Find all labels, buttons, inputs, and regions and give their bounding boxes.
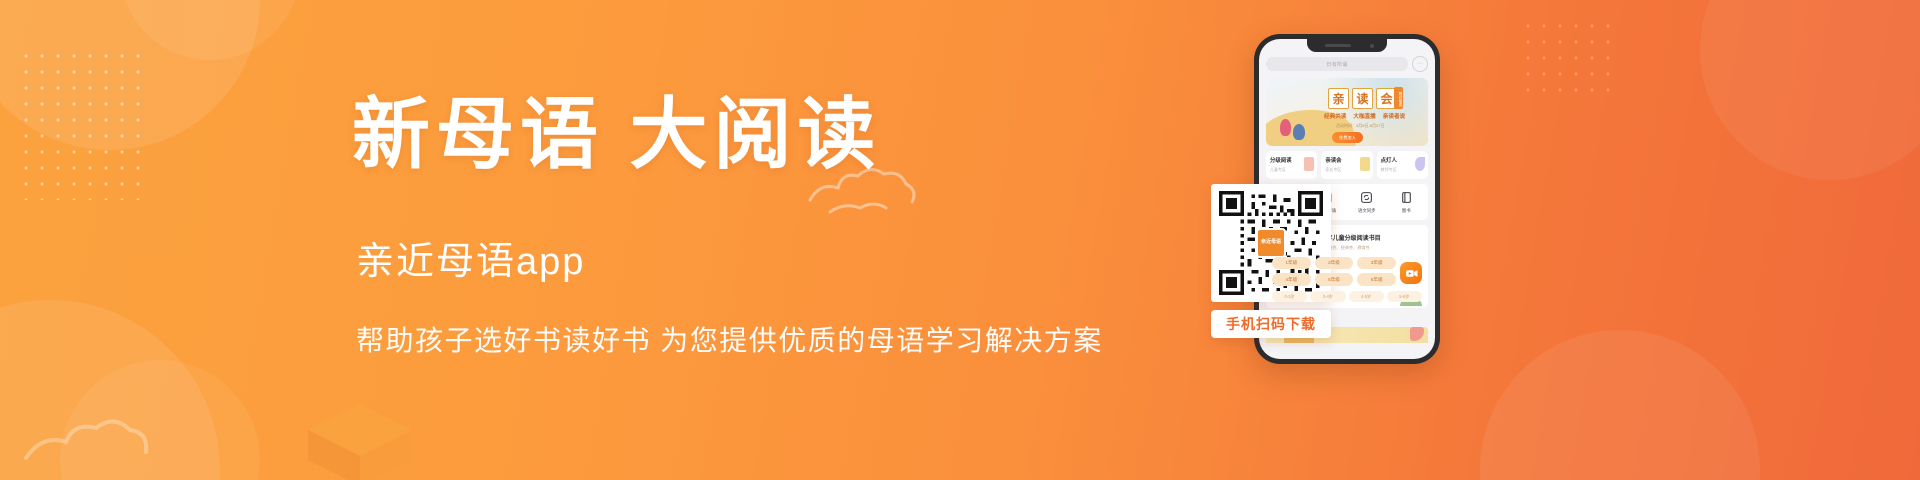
promo-banner: 新母语 大阅读 亲近母语app 帮助孩子选好书读好书 为您提供优质的母语学习解决… <box>0 0 1920 480</box>
decor-cloud-swirl-small-icon <box>20 398 170 478</box>
grade-chip-column: 3年级 6年级 <box>1357 257 1396 286</box>
sync-icon <box>1360 191 1373 204</box>
decor-dot-grid-left <box>18 48 150 200</box>
promo-features: 经典共读 大咖直播 亲读者说 <box>1324 112 1405 120</box>
grade-chip[interactable]: 2年级 <box>1315 257 1354 269</box>
promo-feature: 大咖直播 <box>1353 112 1375 120</box>
promo-title: 亲 读 会 <box>1328 88 1397 109</box>
promo-date: 活动时间：4月6日-5月27日 <box>1336 123 1384 129</box>
banner-subtitle: 亲近母语app <box>356 230 1052 285</box>
promo-child-figure-2 <box>1293 124 1305 140</box>
promo-badge: 限时免费 <box>1394 87 1403 109</box>
age-chip[interactable]: 3-4岁 <box>1310 291 1345 303</box>
promo-join-button[interactable]: 免费加入 <box>1332 132 1363 143</box>
quick-link-sync[interactable]: 语文同步 <box>1347 191 1387 214</box>
qr-logo: 亲近母语 <box>1256 228 1286 258</box>
decor-circle-bottom-left-2 <box>60 360 260 480</box>
search-input-value: 日有所诵 <box>1326 61 1347 68</box>
decor-cube-icon <box>300 396 420 480</box>
promo-title-char: 亲 <box>1328 88 1349 109</box>
category-card-parent-club[interactable]: 亲读会 家长专区 <box>1321 151 1372 179</box>
download-button[interactable]: 手机扫码下载 <box>1211 310 1331 338</box>
more-dots-icon[interactable]: ⋯ <box>1412 56 1428 72</box>
app-search-row: 日有所诵 ⋯ <box>1266 56 1428 72</box>
decor-circle-top-left <box>0 0 260 150</box>
booklist-grade-groups: 1年级 4年级 2年级 5年级 3年级 6年级 <box>1272 257 1422 286</box>
grade-chip[interactable]: 4年级 <box>1272 273 1311 285</box>
decor-dot-grid-right <box>1520 18 1616 102</box>
grade-chip[interactable]: 6年级 <box>1357 273 1396 285</box>
booklist-age-groups: 0-3岁 3-4岁 4-5岁 5-6岁 <box>1272 291 1422 303</box>
category-card-teacher[interactable]: 点灯人 教师专区 <box>1377 151 1428 179</box>
banner-tagline: 帮助孩子选好书读好书 为您提供优质的母语学习解决方案 <box>356 319 1052 359</box>
video-play-icon <box>1405 267 1418 280</box>
bookmark-shape-icon <box>1360 157 1370 171</box>
app-promo-banner[interactable]: 亲 读 会 限时免费 经典共读 大咖直播 亲读者说 活动时间：4月6日-5月27… <box>1266 78 1428 146</box>
decor-circle-top-left-2 <box>120 0 300 60</box>
promo-feature: 亲读者说 <box>1383 112 1405 120</box>
decor-circle-bottom-right <box>1480 330 1760 480</box>
decor-circle-bottom-left <box>0 300 220 480</box>
book-shape-icon <box>1304 157 1314 171</box>
banner-copy: 新母语 大阅读 亲近母语app 帮助孩子选好书读好书 为您提供优质的母语学习解决… <box>352 96 1052 359</box>
quick-link-label: 语文同步 <box>1347 208 1387 214</box>
quick-link-books[interactable]: 图书 <box>1387 191 1427 214</box>
grade-chip[interactable]: 3年级 <box>1357 257 1396 269</box>
grade-chip[interactable]: 5年级 <box>1315 273 1354 285</box>
phone-notch <box>1307 39 1387 52</box>
grade-chip-column: 2年级 5年级 <box>1315 257 1354 286</box>
promo-child-figure-1 <box>1280 119 1291 136</box>
book-icon <box>1400 191 1413 204</box>
promo-title-char: 读 <box>1352 88 1373 109</box>
category-card-graded-reading[interactable]: 分级阅读 儿童专区 <box>1266 151 1317 179</box>
lamp-shape-icon <box>1415 157 1425 171</box>
decor-circle-top-right <box>1700 0 1920 180</box>
grade-chip[interactable]: 1年级 <box>1272 257 1311 269</box>
quick-link-label: 图书 <box>1387 208 1427 214</box>
age-chip[interactable]: 5-6岁 <box>1387 291 1422 303</box>
app-category-cards: 分级阅读 儿童专区 亲读会 家长专区 点灯人 教师专区 <box>1266 151 1428 179</box>
video-play-button[interactable] <box>1400 262 1422 284</box>
age-chip[interactable]: 0-3岁 <box>1272 291 1307 303</box>
search-input[interactable]: 日有所诵 <box>1266 57 1408 71</box>
age-chip[interactable]: 4-5岁 <box>1349 291 1384 303</box>
banner-headline: 新母语 大阅读 <box>352 96 1052 174</box>
promo-feature: 经典共读 <box>1324 112 1346 120</box>
grade-chip-column: 1年级 4年级 <box>1272 257 1311 286</box>
